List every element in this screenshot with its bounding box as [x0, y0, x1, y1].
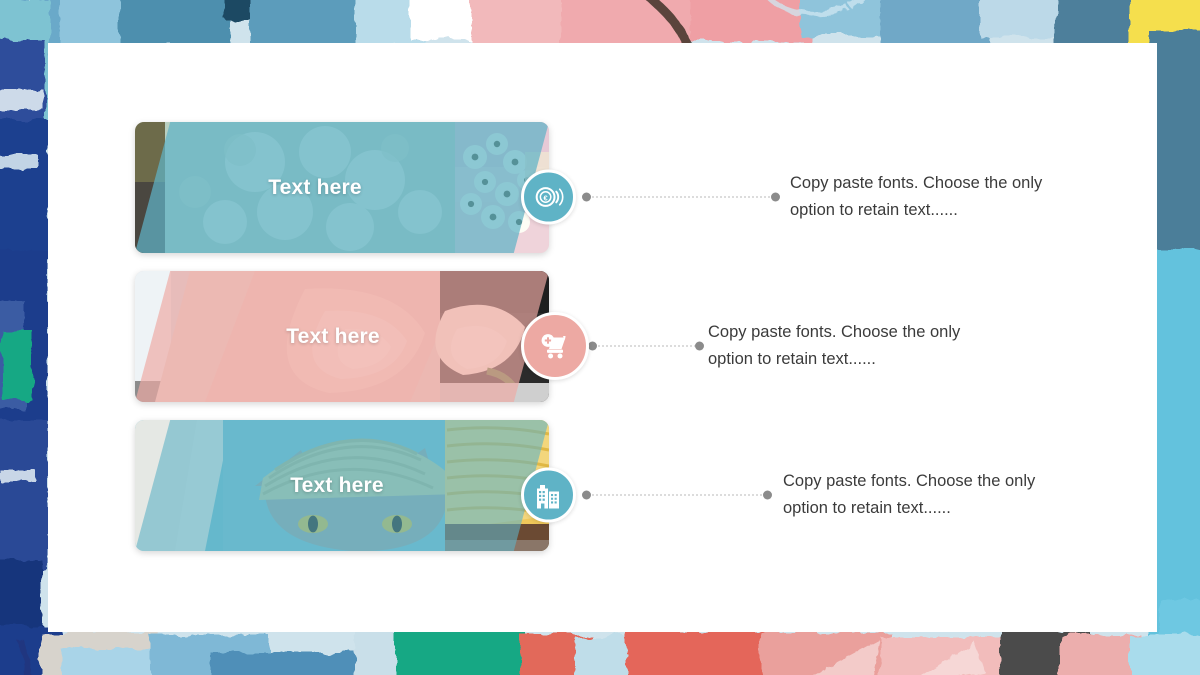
connector-line [582, 193, 780, 202]
badge-euro-coin[interactable]: € [521, 170, 576, 225]
connector-dashes [591, 495, 763, 496]
connector-dashes [597, 346, 695, 347]
image-card[interactable]: Text here [135, 271, 549, 402]
card-body-text: Copy paste fonts. Choose the only option… [790, 170, 1050, 224]
euro-coin-icon: € [533, 182, 564, 213]
content-row: Text here C [48, 420, 1157, 570]
slide-panel: Text here € Copy paste fonts. Choose the… [48, 43, 1157, 632]
card-title: Text here [135, 122, 549, 253]
image-card[interactable]: Text here [135, 420, 549, 551]
card-body-text: Copy paste fonts. Choose the only option… [783, 468, 1043, 522]
connector-line [588, 342, 704, 351]
content-row: Text here € Copy paste fonts. Choose the… [48, 122, 1157, 272]
svg-text:€: € [544, 193, 548, 202]
shopping-cart-plus-icon [538, 329, 572, 363]
badge-office-building[interactable] [521, 468, 576, 523]
connector-dot-start [582, 491, 591, 500]
connector-dot-start [582, 193, 591, 202]
connector-dot-end [771, 193, 780, 202]
office-building-icon [534, 480, 564, 510]
connector-line [582, 491, 772, 500]
badge-shopping-cart[interactable] [521, 312, 589, 380]
connector-dot-end [695, 342, 704, 351]
card-title: Text here [135, 420, 549, 551]
card-body-text: Copy paste fonts. Choose the only option… [708, 319, 968, 373]
connector-dashes [591, 197, 771, 198]
image-card[interactable]: Text here [135, 122, 549, 253]
card-title: Text here [135, 271, 549, 402]
connector-dot-start [588, 342, 597, 351]
content-row: Text here Copy paste fonts. Choose the o… [48, 271, 1157, 421]
connector-dot-end [763, 491, 772, 500]
